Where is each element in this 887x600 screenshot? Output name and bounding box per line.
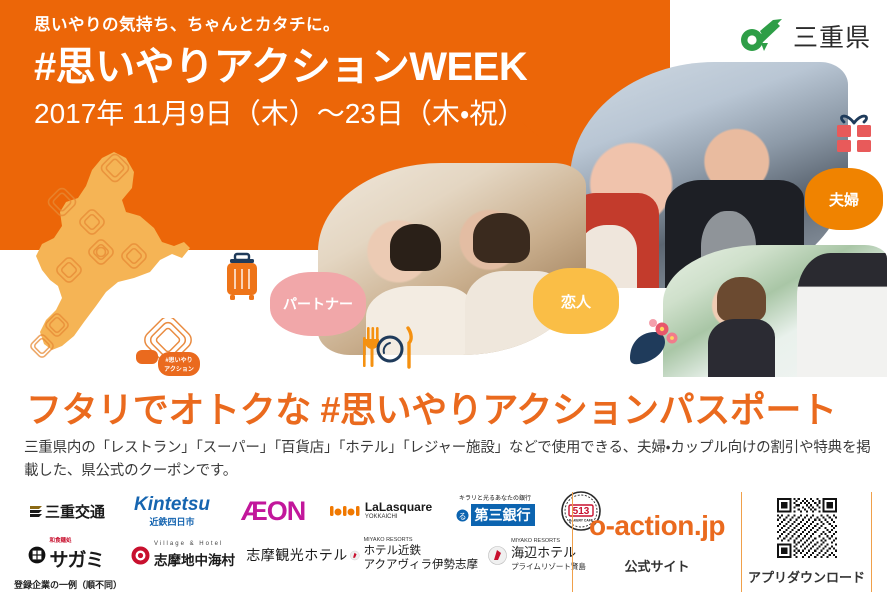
app-download-label: アプリダウンロード	[748, 567, 865, 586]
sponsor-sub: 近鉄四日市	[149, 517, 194, 528]
sponsor-hotel-kintetsu-aquavilla: MIYAKO RESORTS ホテル近鉄 アクアヴィラ伊勢志摩	[350, 534, 478, 576]
badge-partner: パートナー	[270, 272, 366, 336]
sponsor-name: ホテル近鉄	[364, 544, 422, 558]
official-site-label: 公式サイト	[624, 556, 689, 575]
mie-prefecture-logo: 三重県	[740, 18, 871, 54]
page-headline: フタリでオトクな #思いやりアクションパスポート	[26, 381, 837, 433]
bouquet-icon	[625, 318, 679, 370]
qr-code-icon[interactable]	[777, 498, 837, 558]
sponsor-name: 志摩観光ホテル	[246, 545, 348, 565]
logo-mark-line2: アクション	[164, 365, 194, 373]
sponsor-sub: Village & Hotel	[154, 541, 223, 549]
sponsor-sub: YOKKAICHI	[365, 514, 432, 522]
lalasquare-mark-icon	[330, 504, 360, 518]
miyako-resorts-mark-icon	[350, 546, 360, 565]
sponsor-mie-kotsu: 三重交通	[14, 488, 120, 534]
badge-fufu: 夫婦	[805, 168, 883, 230]
daisan-bank-mark-icon: る	[456, 508, 469, 523]
sponsor-area: 三重交通 Kintetsu 近鉄四日市 ÆON	[0, 482, 560, 594]
sponsor-name: サガミ	[49, 545, 103, 572]
sponsor-sagami: 和食麺処 サガミ	[10, 534, 122, 576]
sponsor-name: 志摩地中海村	[154, 549, 235, 569]
sponsor-kintetsu: Kintetsu 近鉄四日市	[120, 488, 224, 534]
svg-text:る: る	[458, 512, 466, 521]
sponsor-name: 第三銀行	[471, 504, 535, 526]
badge-partner-label: パートナー	[283, 294, 353, 314]
shima-chichukai-mark-icon	[131, 546, 150, 565]
sponsor-shima-chichukai: Village & Hotel 志摩地中海村	[122, 534, 244, 576]
photo-couple-wine	[663, 245, 887, 377]
sagami-mark-icon	[28, 546, 46, 564]
omoiyari-action-logo: #思いやり アクション	[128, 318, 206, 380]
poster-root: 思いやりの気持ち、ちゃんとカタチに。 #思いやりアクションWEEK 2017年 …	[0, 0, 887, 600]
mie-pref-mark-icon	[740, 18, 784, 54]
cta-app-download[interactable]: アプリダウンロード	[742, 492, 872, 592]
cta-area: o-action.jp 公式サイト	[572, 492, 872, 592]
sponsor-name: LaLasquare	[365, 500, 432, 514]
hero-tagline: 思いやりの気持ち、ちゃんとカタチに。	[34, 16, 527, 36]
sponsor-name: 海辺ホテル	[511, 545, 576, 562]
dining-icon	[360, 325, 416, 371]
mie-pref-name: 三重県	[793, 18, 871, 54]
sponsor-sub: 和食麺処	[49, 538, 71, 545]
hero-text-block: 思いやりの気持ち、ちゃんとカタチに。 #思いやりアクションWEEK 2017年 …	[34, 16, 527, 131]
hero-date: 2017年 11月9日（木）〜23日（木・祝）	[34, 96, 527, 131]
badge-koibito-label: 恋人	[561, 291, 591, 312]
sponsor-name: Kintetsu	[134, 494, 210, 516]
miyako-resorts-mark-icon-2	[488, 546, 507, 565]
badge-koibito: 恋人	[533, 268, 619, 334]
sponsor-lalasquare: LaLasquare YOKKAICHI	[322, 488, 440, 534]
sponsor-shima-kanko-hotel: 志摩観光ホテル	[244, 534, 350, 576]
page-subcopy: 三重県内の「レストラン」「スーパー」「百貨店」「ホテル」「レジャー施設」などで使…	[24, 437, 874, 484]
sponsor-row-1: 三重交通 Kintetsu 近鉄四日市 ÆON	[14, 488, 560, 534]
official-site-url[interactable]: o-action.jp	[589, 510, 725, 542]
logo-mark-line1: #思いやり	[165, 356, 192, 364]
sponsor-sub: キラリと光るあなたの銀行	[459, 496, 531, 504]
sponsor-row-2: 和食麺処 サガミ Village & Hotel 志摩地中海村 志摩観光ホテル	[10, 534, 560, 576]
suitcase-icon	[222, 252, 262, 302]
gift-icon	[833, 110, 875, 154]
hero-title: #思いやりアクションWEEK	[34, 42, 527, 92]
sponsor-name: 三重交通	[45, 501, 105, 522]
registered-companies-note: 登録企業の一例（順不同）	[14, 578, 122, 591]
sponsor-aeon: ÆON	[224, 488, 322, 534]
sponsor-sub: MIYAKO RESORTS	[364, 537, 413, 544]
sponsor-sub: MIYAKO RESORTS	[511, 538, 560, 545]
mie-kotsu-mark-icon	[29, 503, 45, 519]
sponsor-sub2: アクアヴィラ伊勢志摩	[364, 558, 478, 572]
sponsor-daisan-bank: キラリと光るあなたの銀行 る 第三銀行	[440, 488, 550, 534]
cta-official-site[interactable]: o-action.jp 公式サイト	[572, 492, 742, 592]
badge-fufu-label: 夫婦	[829, 189, 859, 210]
sponsor-name: ÆON	[241, 496, 306, 527]
